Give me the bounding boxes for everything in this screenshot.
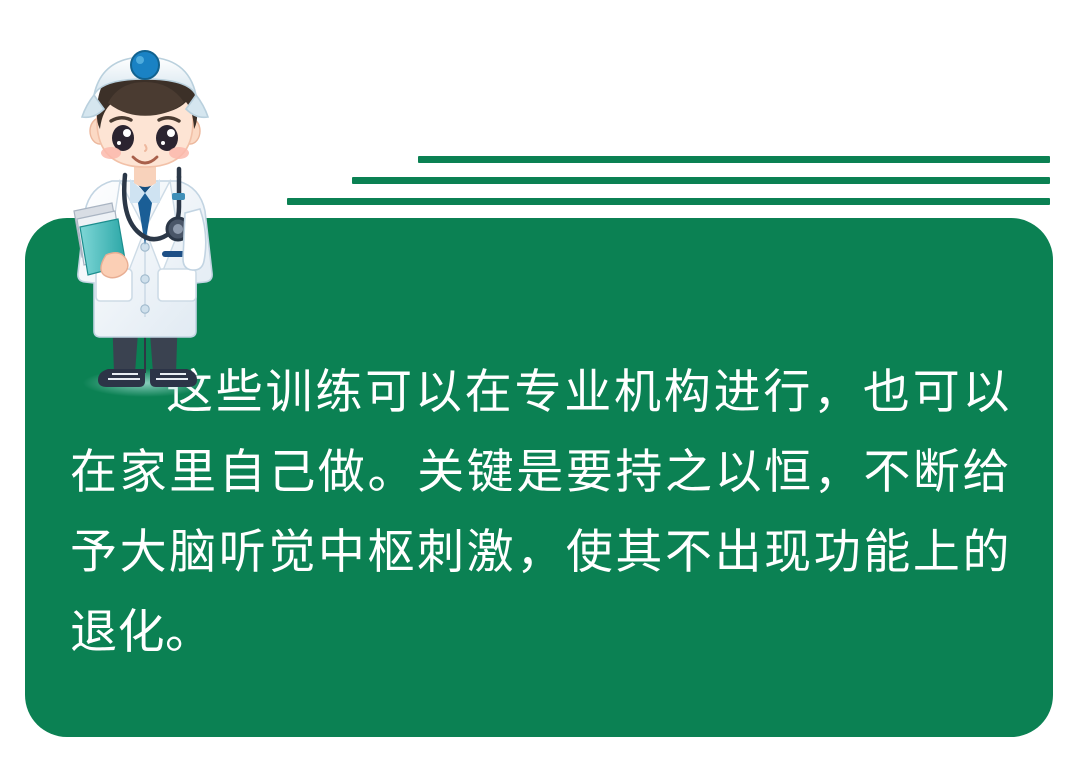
left-hand [101, 253, 128, 278]
decorative-line-3 [287, 198, 1050, 205]
decorative-line-1 [418, 156, 1050, 163]
blush-left [101, 147, 121, 159]
right-arm [183, 209, 206, 270]
decorative-line-2 [352, 177, 1050, 184]
coat-pocket-right [158, 269, 196, 301]
blush-right [169, 147, 189, 159]
slide-canvas: 这些训练可以在专业机构进行，也可以在家里自己做。关键是要持之以恒，不断给予大脑听… [0, 0, 1080, 781]
doctor-illustration [50, 33, 240, 403]
cap-badge [131, 51, 159, 79]
